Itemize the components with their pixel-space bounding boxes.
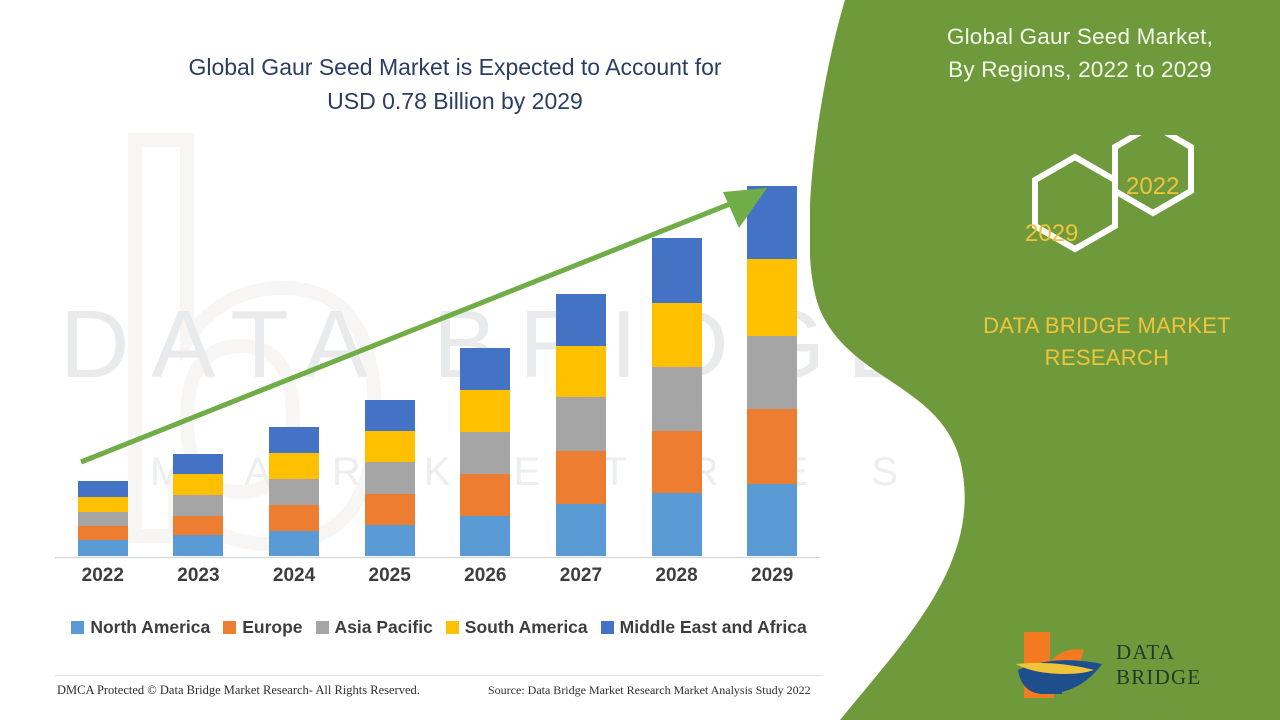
stacked-bar — [556, 294, 606, 556]
bar-segment — [747, 409, 797, 484]
bar-column-2028 — [629, 170, 725, 556]
bar-segment — [460, 516, 510, 556]
hexagon-2029-label: 2029 — [1025, 220, 1078, 248]
bar-segment — [269, 505, 319, 531]
legend-label: Europe — [242, 617, 302, 638]
brand-name: DATA BRIDGE MARKET RESEARCH — [942, 310, 1272, 374]
legend-label: Middle East and Africa — [620, 617, 807, 638]
x-axis-tick-2024: 2024 — [246, 565, 342, 587]
bar-segment — [556, 451, 606, 504]
logo-text-block: DATA BRIDGE MARKET RESEARCH — [1116, 640, 1245, 714]
bar-segment — [78, 497, 128, 512]
legend-swatch-icon — [223, 621, 236, 634]
bar-segment — [652, 493, 702, 556]
bar-segment — [173, 454, 223, 474]
legend-item[interactable]: South America — [446, 617, 588, 638]
bar-segment — [556, 294, 606, 346]
legend-label: South America — [465, 617, 588, 638]
x-axis-tick-2029: 2029 — [724, 565, 820, 587]
logo-subtitle: MARKET RESEARCH — [1116, 694, 1245, 714]
legend-label: North America — [90, 617, 210, 638]
bar-column-2025 — [342, 170, 438, 556]
stacked-bar-group — [55, 170, 820, 556]
bar-segment — [652, 367, 702, 431]
hexagon-2022-label: 2022 — [1126, 173, 1179, 201]
legend-swatch-icon — [71, 621, 84, 634]
logo-mark-icon — [1010, 626, 1110, 698]
stacked-bar — [652, 238, 702, 556]
stacked-bar — [173, 454, 223, 556]
bar-segment — [269, 453, 319, 479]
bar-segment — [78, 512, 128, 526]
chart-plot-area — [55, 170, 820, 558]
bar-segment — [365, 494, 415, 525]
panel-title-line-2: By Regions, 2022 to 2029 — [880, 53, 1280, 86]
x-axis-labels: 20222023202420252026202720282029 — [55, 565, 820, 587]
bar-segment — [556, 504, 606, 556]
footer-source: Source: Data Bridge Market Research Mark… — [488, 683, 811, 698]
legend-swatch-icon — [601, 621, 614, 634]
bar-segment — [269, 479, 319, 505]
data-bridge-logo: DATA BRIDGE MARKET RESEARCH — [1010, 626, 1245, 698]
stacked-bar — [460, 348, 510, 556]
bar-segment — [460, 474, 510, 516]
legend-item[interactable]: Europe — [223, 617, 302, 638]
x-axis-tick-2023: 2023 — [151, 565, 247, 587]
panel-title: Global Gaur Seed Market, By Regions, 202… — [880, 20, 1280, 86]
stacked-bar — [78, 481, 128, 556]
bar-column-2024 — [246, 170, 342, 556]
bar-segment — [747, 484, 797, 556]
bar-column-2027 — [533, 170, 629, 556]
x-axis-tick-2027: 2027 — [533, 565, 629, 587]
logo-title: DATA BRIDGE — [1116, 640, 1245, 690]
panel-title-line-1: Global Gaur Seed Market, — [880, 20, 1280, 53]
chart-title-line-1: Global Gaur Seed Market is Expected to A… — [70, 50, 840, 84]
stacked-bar — [269, 427, 319, 556]
legend-swatch-icon — [316, 621, 329, 634]
bar-segment — [173, 495, 223, 516]
brand-name-line-2: RESEARCH — [942, 342, 1272, 374]
bar-segment — [78, 540, 128, 556]
chart-title: Global Gaur Seed Market is Expected to A… — [70, 50, 840, 118]
bar-segment — [365, 431, 415, 462]
legend-item[interactable]: Middle East and Africa — [601, 617, 807, 638]
brand-name-line-1: DATA BRIDGE MARKET — [942, 310, 1272, 342]
hexagon-badges: 2022 2029 — [980, 135, 1220, 295]
bar-segment — [556, 397, 606, 451]
x-axis-line — [55, 557, 820, 558]
bar-segment — [365, 525, 415, 556]
bar-column-2023 — [151, 170, 247, 556]
legend-label: Asia Pacific — [335, 617, 433, 638]
bar-segment — [747, 336, 797, 409]
bar-segment — [652, 238, 702, 303]
bar-segment — [269, 427, 319, 453]
legend-swatch-icon — [446, 621, 459, 634]
bar-segment — [365, 462, 415, 494]
legend-item[interactable]: Asia Pacific — [316, 617, 433, 638]
bar-segment — [460, 432, 510, 474]
legend-item[interactable]: North America — [71, 617, 210, 638]
stacked-bar — [365, 400, 415, 556]
bar-segment — [78, 481, 128, 497]
bar-segment — [460, 390, 510, 432]
bar-column-2026 — [438, 170, 534, 556]
footer-copyright: DMCA Protected © Data Bridge Market Rese… — [57, 683, 420, 698]
bar-segment — [747, 259, 797, 336]
bar-segment — [173, 516, 223, 535]
stacked-bar — [747, 186, 797, 556]
bar-column-2029 — [724, 170, 820, 556]
bar-segment — [652, 303, 702, 367]
bar-segment — [652, 431, 702, 493]
chart-legend: North AmericaEuropeAsia PacificSouth Ame… — [55, 617, 823, 638]
bar-segment — [556, 346, 606, 397]
x-axis-tick-2026: 2026 — [438, 565, 534, 587]
bar-segment — [747, 186, 797, 259]
bar-segment — [173, 535, 223, 556]
bar-segment — [78, 526, 128, 540]
bar-segment — [269, 531, 319, 556]
bar-segment — [173, 474, 223, 495]
x-axis-tick-2028: 2028 — [629, 565, 725, 587]
x-axis-tick-2025: 2025 — [342, 565, 438, 587]
bar-segment — [460, 348, 510, 390]
bar-segment — [365, 400, 415, 431]
bar-column-2022 — [55, 170, 151, 556]
footer-divider — [55, 675, 823, 676]
x-axis-tick-2022: 2022 — [55, 565, 151, 587]
hexagon-outline-icon — [980, 135, 1220, 295]
chart-title-line-2: USD 0.78 Billion by 2029 — [70, 84, 840, 118]
